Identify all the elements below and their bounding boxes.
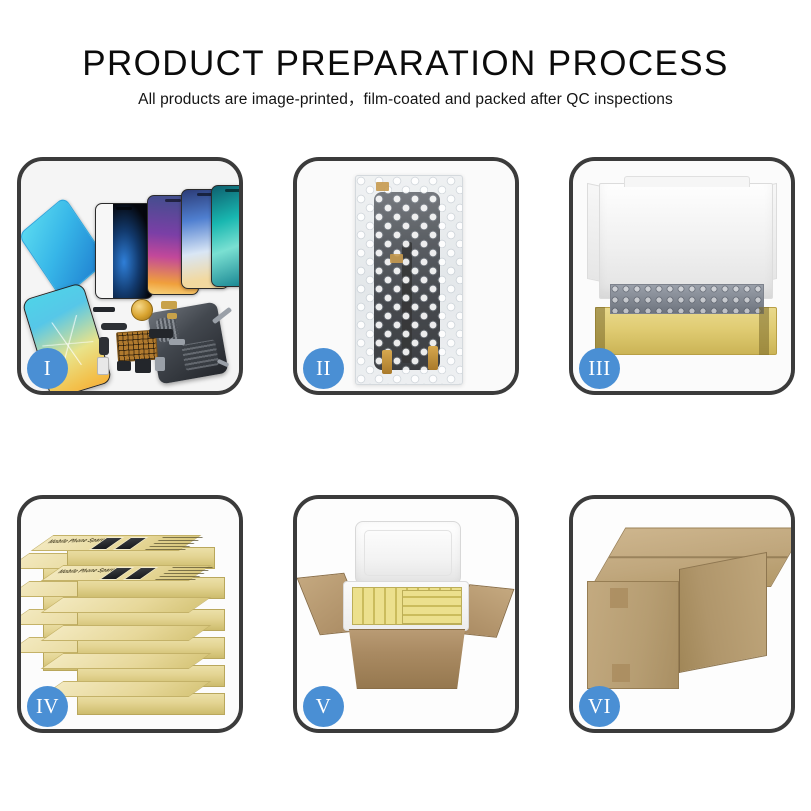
- step-badge-1: I: [27, 348, 68, 389]
- step-panel-1: I: [17, 157, 243, 395]
- speaker-part: [117, 361, 131, 371]
- connector-part: [93, 307, 115, 312]
- tape-patch: [610, 588, 628, 608]
- box-stack: Mobile Phone Spare Parts Mobile Phone Sp…: [29, 519, 239, 719]
- foam-lid: [355, 521, 461, 585]
- carton-side-face: [679, 552, 767, 673]
- step-badge-5: V: [303, 686, 344, 727]
- step-panel-4: Mobile Phone Spare Parts Mobile Phone Sp…: [17, 495, 243, 733]
- white-box-lid: [599, 183, 773, 299]
- phone-lineup: [77, 187, 239, 299]
- step-badge-6: VI: [579, 686, 620, 727]
- carton-body: [341, 629, 473, 689]
- gold-flex-connector: [428, 346, 438, 370]
- camera-module-part: [149, 329, 173, 338]
- black-phone-screen: [95, 203, 153, 299]
- carton-front-face: [587, 581, 679, 689]
- stacked-box-labeled: Mobile Phone Spare Parts: [77, 577, 225, 599]
- process-steps-grid: I II: [17, 157, 795, 733]
- step-panel-2: II: [293, 157, 519, 395]
- foam-container: [343, 581, 469, 631]
- kraft-box-base: [595, 307, 777, 355]
- step-panel-6: VI: [569, 495, 795, 733]
- bubble-texture: [356, 176, 462, 384]
- step-badge-4: IV: [27, 686, 68, 727]
- bubble-wrap-bag: [355, 175, 463, 385]
- page-title: PRODUCT PREPARATION PROCESS: [0, 44, 811, 84]
- flex-cable-part: [99, 337, 109, 355]
- sim-tray-part: [97, 357, 109, 375]
- gold-disc-part: [131, 299, 153, 321]
- gold-flex-connector: [382, 350, 392, 374]
- gold-bracket-part: [161, 301, 177, 309]
- page-subtitle: All products are image-printed，film-coat…: [0, 90, 811, 110]
- flex-cable-part: [101, 323, 127, 330]
- metal-shield-part: [169, 339, 185, 345]
- step-panel-5: V: [293, 495, 519, 733]
- tape-tab: [390, 254, 403, 263]
- step-panel-3: III: [569, 157, 795, 395]
- gold-clip-part: [167, 313, 177, 319]
- packed-yellow-boxes: [402, 590, 462, 624]
- battery-connector-part: [155, 357, 165, 371]
- stacked-box: [77, 693, 225, 715]
- header: PRODUCT PREPARATION PROCESS All products…: [0, 44, 811, 110]
- bubble-wrapped-contents: [610, 284, 764, 314]
- box-corner-right: [759, 307, 769, 355]
- step-badge-3: III: [579, 348, 620, 389]
- gradient-phone-teal: [211, 185, 239, 287]
- phone-back-housing: [147, 301, 228, 384]
- tape-tab: [376, 182, 389, 191]
- step-badge-2: II: [303, 348, 344, 389]
- carton-edge-seam: [679, 569, 680, 673]
- tape-patch: [612, 664, 630, 682]
- product-preparation-process-page: PRODUCT PREPARATION PROCESS All products…: [0, 0, 811, 811]
- taptic-part: [135, 359, 151, 373]
